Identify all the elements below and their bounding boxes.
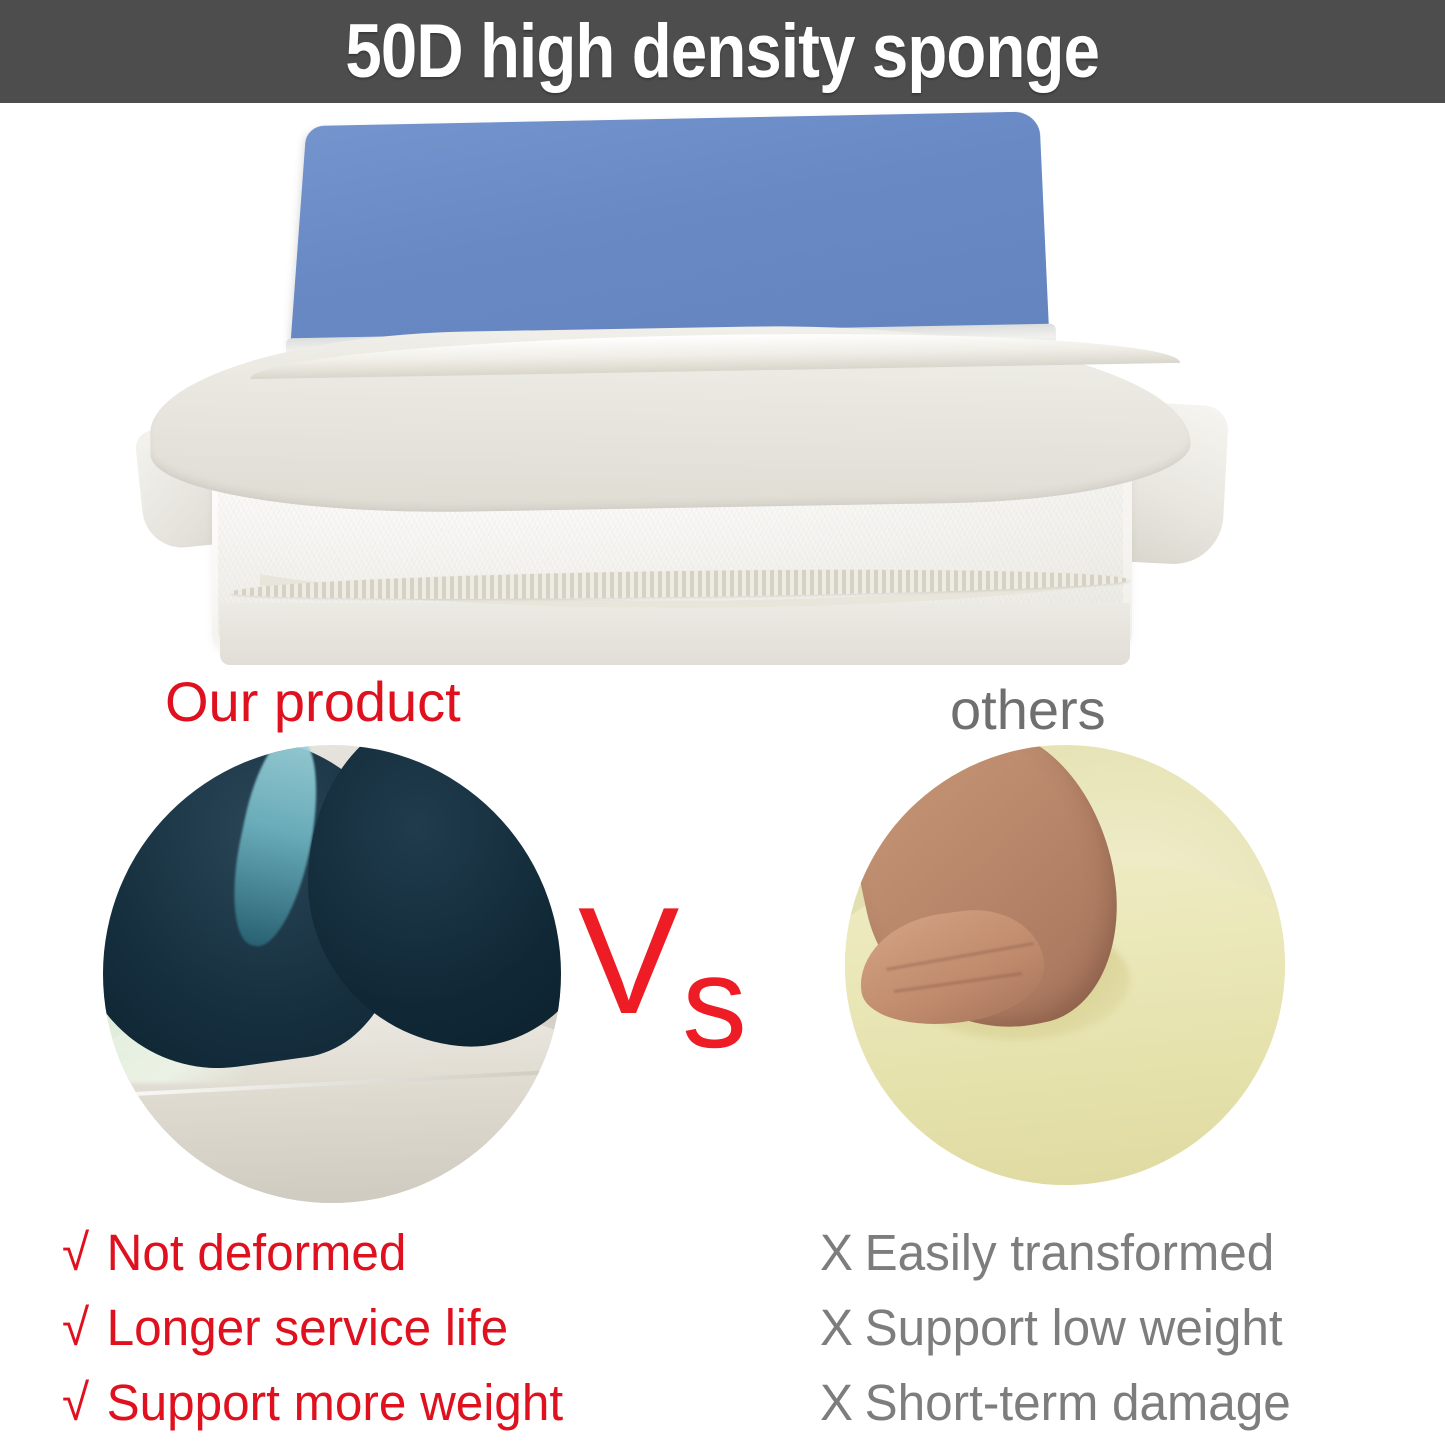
versus-mark: V s (578, 885, 808, 1070)
check-icon: √ (62, 1215, 107, 1290)
list-item: XEasily transformed (820, 1215, 1291, 1290)
others-photo-circle (845, 745, 1285, 1185)
list-item-label: Easily transformed (865, 1224, 1275, 1281)
versus-v-glyph: V (578, 885, 679, 1037)
list-item: √Support more weight (62, 1365, 563, 1440)
header-banner: 50D high density sponge (0, 0, 1445, 103)
list-item: XSupport low weight (820, 1290, 1291, 1365)
list-item-label: Longer service life (107, 1299, 508, 1356)
list-item-label: Short-term damage (865, 1374, 1291, 1431)
cons-list: XEasily transformed XSupport low weight … (820, 1215, 1291, 1440)
our-product-photo-circle (103, 745, 561, 1203)
list-item-label: Not deformed (107, 1224, 407, 1281)
cross-icon: X (820, 1290, 865, 1365)
zipper-curve (260, 543, 1100, 677)
list-item: √Not deformed (62, 1215, 563, 1290)
check-icon: √ (62, 1290, 107, 1365)
list-item-label: Support low weight (865, 1299, 1283, 1356)
list-item: √Longer service life (62, 1290, 563, 1365)
product-comparison-infographic: 50D high density sponge Our product othe… (0, 0, 1445, 1445)
versus-s-glyph: s (682, 937, 747, 1067)
pros-list: √Not deformed √Longer service life √Supp… (62, 1215, 563, 1440)
cross-icon: X (820, 1215, 865, 1290)
hero-product-photo (140, 103, 1270, 678)
our-product-label: Our product (165, 672, 461, 732)
cross-icon: X (820, 1365, 865, 1440)
check-icon: √ (62, 1365, 107, 1440)
blue-foam-core (290, 111, 1050, 355)
list-item: XShort-term damage (820, 1365, 1291, 1440)
list-item-label: Support more weight (107, 1374, 563, 1431)
others-label: others (950, 680, 1106, 740)
page-title: 50D high density sponge (346, 12, 1100, 92)
